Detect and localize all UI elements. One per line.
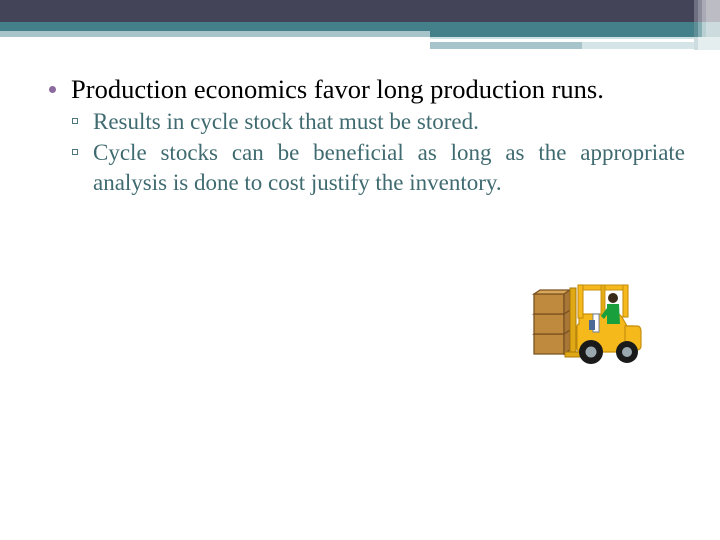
slide-content-body: Production economics favor long producti…: [40, 74, 685, 199]
banner-band-right-hairline: [430, 37, 720, 39]
slide: Production economics favor long producti…: [0, 0, 720, 540]
bullet-text-level2-1: Results in cycle stock that must be stor…: [93, 109, 479, 134]
banner-band-right-pale: [430, 42, 582, 49]
bullet-text-level2-2: Cycle stocks can be beneficial as long a…: [93, 140, 685, 196]
slide-header-banner: [0, 0, 720, 50]
banner-band-teal-right: [430, 22, 720, 37]
bullet-list-level1: Production economics favor long producti…: [40, 74, 685, 199]
hollow-square-bullet-icon: [72, 149, 78, 155]
bullet-text-level1: Production economics favor long producti…: [71, 74, 604, 104]
banner-band-dark: [0, 0, 720, 22]
banner-band-teal-left: [0, 22, 430, 31]
forklift-cab-icon: [578, 285, 628, 318]
bullet-item-level2-1: Results in cycle stock that must be stor…: [62, 107, 685, 138]
bullet-item-level2-2: Cycle stocks can be beneficial as long a…: [62, 138, 685, 199]
forklift-clipart: [521, 276, 649, 368]
hollow-square-bullet-icon: [72, 118, 78, 124]
banner-band-white-left: [0, 37, 430, 50]
banner-vertical-stripe-pale-2: [698, 37, 720, 50]
bullet-list-level2: Results in cycle stock that must be stor…: [40, 107, 685, 199]
box-stack-icon: [534, 290, 570, 354]
bullet-item-level1: Production economics favor long producti…: [40, 74, 685, 105]
round-dot-bullet-icon: [49, 86, 56, 93]
